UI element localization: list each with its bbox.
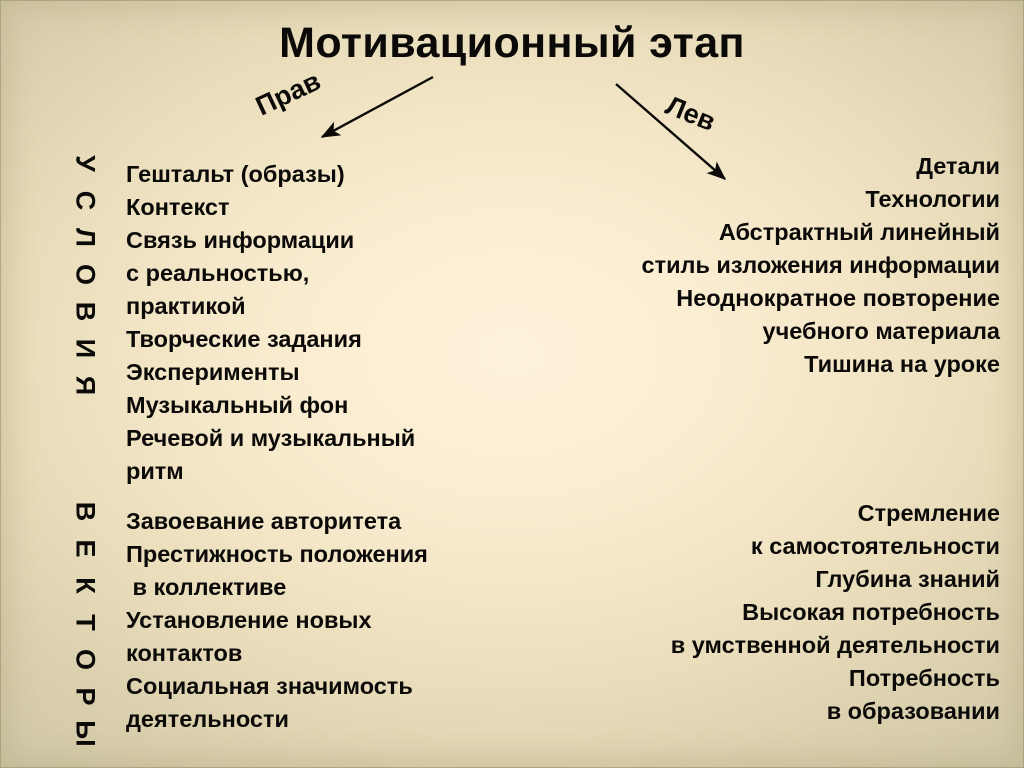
vertical-label-usloviya: УСЛОВИЯ: [62, 150, 108, 409]
conditions-left-line: Контекст: [126, 191, 415, 224]
page-title: Мотивационный этап: [0, 22, 1024, 65]
left-column-conditions: Гештальт (образы)КонтекстСвязь информаци…: [126, 158, 415, 488]
right-column-conditions: ДеталиТехнологииАбстрактный линейныйстил…: [642, 150, 1001, 381]
arrow-to-left-column: [322, 77, 433, 137]
vectors-left-line: деятельности: [126, 703, 428, 736]
vectors-left-line: Престижность положения: [126, 538, 428, 571]
conditions-left-line: с реальностью,: [126, 257, 415, 290]
vectors-right-line: к самостоятельности: [671, 530, 1000, 563]
conditions-right-line: Абстрактный линейный: [642, 216, 1001, 249]
arrow-label-right: Лев: [662, 92, 719, 136]
vectors-left-line: Завоевание авторитета: [126, 505, 428, 538]
vertical-label-vektory-letter: Ы: [72, 711, 99, 757]
slide-canvas: Мотивационный этап Прав Лев УСЛОВИЯ ВЕКТ…: [0, 0, 1024, 768]
conditions-right-line: стиль изложения информации: [642, 249, 1001, 282]
vectors-right-line: в умственной деятельности: [671, 629, 1000, 662]
vectors-right-line: Стремление: [671, 497, 1000, 530]
vectors-left-line: в коллективе: [126, 571, 428, 604]
vectors-right-line: Потребность: [671, 662, 1000, 695]
conditions-right-line: Неоднократное повторение: [642, 282, 1001, 315]
conditions-left-line: Связь информации: [126, 224, 415, 257]
conditions-left-line: Эксперименты: [126, 356, 415, 389]
conditions-left-line: ритм: [126, 455, 415, 488]
conditions-right-line: Тишина на уроке: [642, 348, 1001, 381]
conditions-right-line: Технологии: [642, 183, 1001, 216]
vectors-right-line: в образовании: [671, 695, 1000, 728]
right-column-vectors: Стремлениек самостоятельностиГлубина зна…: [671, 497, 1000, 728]
vectors-left-line: Социальная значимость: [126, 670, 428, 703]
conditions-right-line: учебного материала: [642, 315, 1001, 348]
vertical-label-vektory: ВЕКТОРЫ: [62, 498, 108, 757]
vectors-right-line: Высокая потребность: [671, 596, 1000, 629]
conditions-left-line: Речевой и музыкальный: [126, 422, 415, 455]
arrow-label-left: Прав: [252, 67, 325, 120]
conditions-left-line: практикой: [126, 290, 415, 323]
conditions-left-line: Творческие задания: [126, 323, 415, 356]
vectors-left-line: Установление новых: [126, 604, 428, 637]
left-column-vectors: Завоевание авторитетаПрестижность положе…: [126, 505, 428, 736]
vectors-left-line: контактов: [126, 637, 428, 670]
vertical-label-usloviya-letter: Я: [72, 363, 99, 409]
vectors-right-line: Глубина знаний: [671, 563, 1000, 596]
conditions-right-line: Детали: [642, 150, 1001, 183]
conditions-left-line: Гештальт (образы): [126, 158, 415, 191]
conditions-left-line: Музыкальный фон: [126, 389, 415, 422]
